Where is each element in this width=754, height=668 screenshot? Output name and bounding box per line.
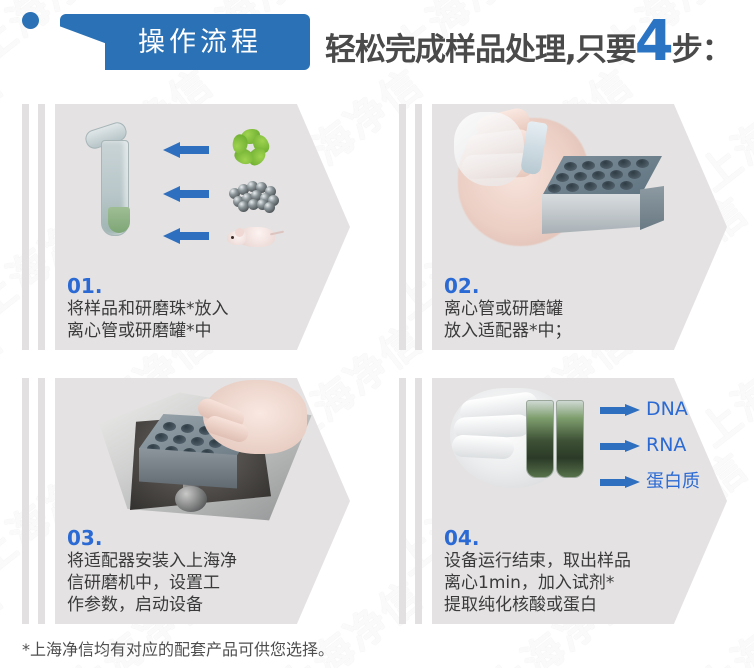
step-line: 作参数，启动设备: [67, 594, 317, 616]
headline-prefix: 轻松完成样品处理,只要: [325, 24, 636, 76]
page-header: 操作流程 轻松完成样品处理,只要 4 步：: [0, 0, 754, 88]
step-2-illustration: [432, 104, 727, 254]
right-arrow-icon: [600, 404, 640, 417]
step-4-text: 04. 设备运行结束，取出样品 离心1min，加入试剂* 提取纯化核酸或蛋白: [444, 527, 694, 616]
step-line: 信研磨机中，设置工: [67, 572, 317, 594]
step-card-2: 02. 离心管或研磨罐 放入适配器*中；: [377, 96, 754, 368]
step-number: 01.: [67, 275, 317, 297]
banner-dot-icon: [22, 12, 39, 29]
left-arrow-icon: [163, 186, 209, 201]
step-line: 设备运行结束，取出样品: [444, 550, 694, 572]
step-line: 提取纯化核酸或蛋白: [444, 594, 694, 616]
footer-note: *上海净信均有对应的配套产品可供您选择。: [22, 636, 334, 660]
right-arrow-icon: [600, 476, 640, 489]
accent-bar: [38, 378, 45, 624]
accent-bar: [415, 104, 422, 350]
adapter-block-icon: [542, 156, 662, 234]
accent-bar: [399, 378, 406, 624]
step-line: 将样品和研磨珠*放入: [67, 298, 317, 320]
step-card-1: 01. 将样品和研磨珠*放入 离心管或研磨罐*中: [0, 96, 377, 368]
clover-leaf-icon: [227, 128, 273, 168]
glove-icon: [454, 112, 524, 186]
banner-label: 操作流程: [138, 29, 262, 56]
left-arrow-icon: [163, 142, 209, 157]
right-arrow-icon: [600, 440, 640, 453]
step-4-illustration: DNA RNA 蛋白质: [432, 378, 727, 528]
step-number: 04.: [444, 527, 694, 549]
step-2-text: 02. 离心管或研磨罐 放入适配器*中；: [444, 275, 694, 342]
step-line: 离心管或研磨罐: [444, 298, 694, 320]
step-line: 离心1min，加入试剂*: [444, 572, 694, 594]
centrifuge-tube-icon: [97, 126, 131, 234]
step-1-text: 01. 将样品和研磨珠*放入 离心管或研磨罐*中: [67, 275, 317, 342]
step-panel: 03. 将适配器安装入上海净 信研磨机中，设置工 作参数，启动设备: [55, 378, 350, 624]
step-3-illustration: [55, 378, 350, 528]
accent-bar: [22, 378, 29, 624]
step-1-illustration: [55, 104, 350, 254]
step-number: 03.: [67, 527, 317, 549]
output-label-protein: 蛋白质: [646, 472, 700, 491]
left-arrow-icon: [163, 228, 209, 243]
step-line: 离心管或研磨罐*中: [67, 320, 317, 342]
sample-vial-icon: [526, 400, 554, 478]
promo-page: 操作流程 轻松完成样品处理,只要 4 步：: [0, 0, 754, 668]
output-label-dna: DNA: [646, 400, 688, 419]
step-panel: 01. 将样品和研磨珠*放入 离心管或研磨罐*中: [55, 104, 350, 350]
accent-bar: [38, 104, 45, 350]
steps-grid: 01. 将样品和研磨珠*放入 离心管或研磨罐*中: [0, 96, 754, 636]
step-number: 02.: [444, 275, 694, 297]
step-card-3: 03. 将适配器安装入上海净 信研磨机中，设置工 作参数，启动设备: [0, 370, 377, 642]
step-3-text: 03. 将适配器安装入上海净 信研磨机中，设置工 作参数，启动设备: [67, 527, 317, 616]
step-card-4: DNA RNA 蛋白质 04. 设备运行结束，取出样品 离心1min，加入试剂*…: [377, 370, 754, 642]
output-label-rna: RNA: [646, 436, 686, 455]
accent-bar: [415, 378, 422, 624]
step-panel: 02. 离心管或研磨罐 放入适配器*中；: [432, 104, 727, 350]
accent-bar: [399, 104, 406, 350]
accent-bar: [22, 104, 29, 350]
step-line: 放入适配器*中；: [444, 320, 694, 342]
step-line: 将适配器安装入上海净: [67, 550, 317, 572]
headline: 轻松完成样品处理,只要 4 步：: [325, 16, 732, 76]
banner-ribbon: 操作流程: [60, 14, 310, 70]
sample-vial-icon: [556, 400, 584, 478]
headline-number: 4: [635, 16, 674, 68]
step-panel: DNA RNA 蛋白质 04. 设备运行结束，取出样品 离心1min，加入试剂*…: [432, 378, 727, 624]
mouse-icon: [227, 222, 279, 250]
grinding-beads-icon: [227, 176, 279, 208]
headline-suffix: 步：: [672, 24, 732, 76]
